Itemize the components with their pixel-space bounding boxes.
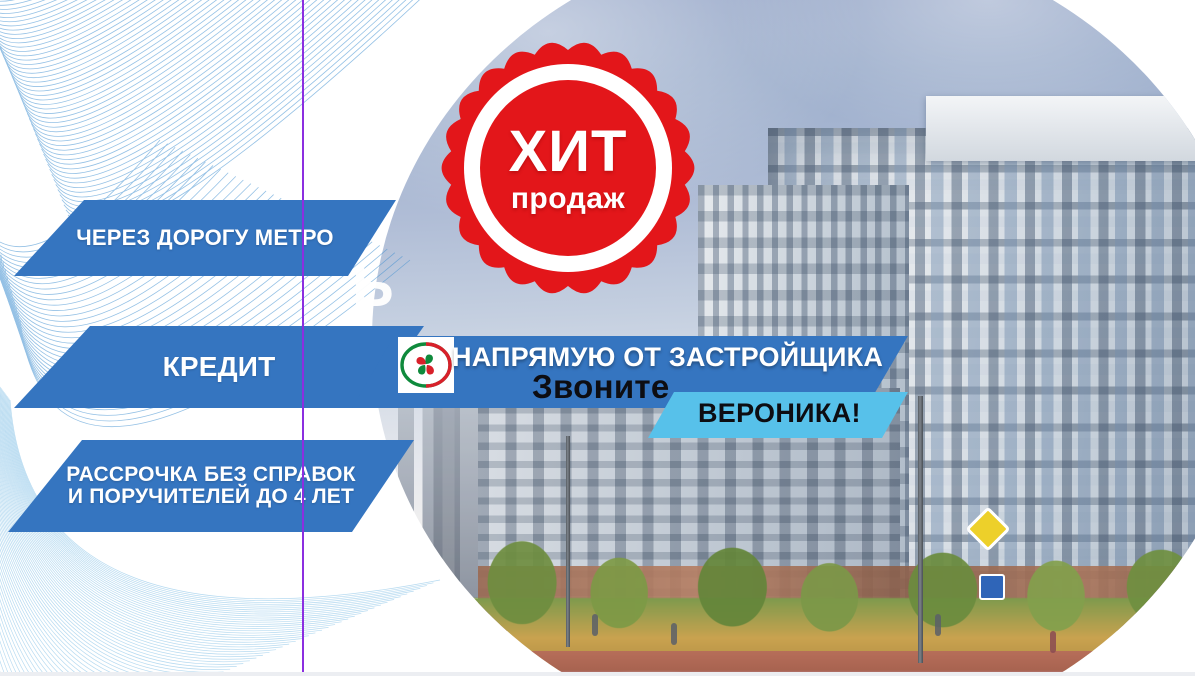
feature-label-metro: ЧЕРЕЗ ДОРОГУ МЕТРО (76, 226, 333, 249)
feature-label-installments-line2: И ПОРУЧИТЕЛЕЙ ДО 4 ЛЕТ (66, 486, 355, 508)
tower-roof (926, 96, 1195, 161)
pedestrian (1050, 631, 1056, 653)
hit-prodazh-badge: ХИТ продаж (432, 32, 704, 304)
feature-label-installments: РАССРОЧКА БЕЗ СПРАВОК И ПОРУЧИТЕЛЕЙ ДО 4… (66, 464, 355, 508)
bottom-divider (0, 672, 1195, 676)
street-light-pole-left (566, 436, 570, 647)
pedestrian (671, 623, 677, 645)
contact-name: ВЕРОНИКА! (698, 398, 861, 429)
vertical-guide-line (302, 0, 304, 676)
pedestrian (1182, 598, 1188, 620)
street-trees (425, 517, 1195, 663)
street-light-pole (918, 396, 923, 663)
feature-label-installments-line1: РАССРОЧКА БЕЗ СПРАВОК (66, 464, 355, 486)
clover-logo-tile (398, 337, 454, 393)
pedestrian (592, 614, 598, 636)
pedestrian-crossing-sign (979, 574, 1005, 600)
cropped-text-artifact: Ь (352, 258, 394, 316)
pedestrian (935, 614, 941, 636)
feature-label-credit: КРЕДИТ (163, 352, 276, 381)
promo-banner: ХИТ продаж ЧЕРЕЗ ДОРОГУ МЕТРО КРЕДИТ РАС… (0, 0, 1195, 676)
clover-logo (400, 339, 452, 391)
call-now-text: Звоните (532, 368, 670, 406)
